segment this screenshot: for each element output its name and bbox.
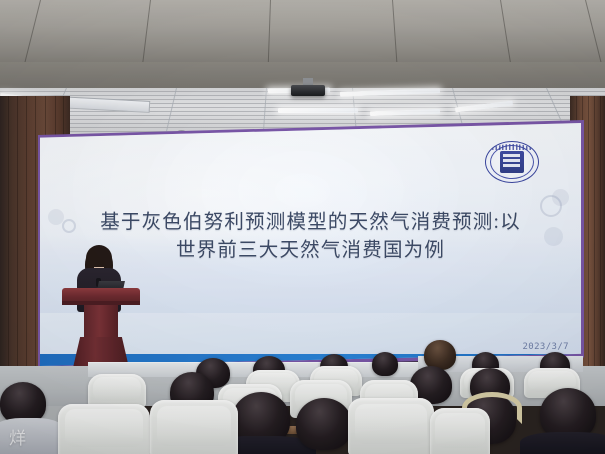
auditorium-seat[interactable] (58, 404, 150, 454)
auditorium-seat[interactable] (430, 408, 490, 454)
audience-head (372, 352, 398, 376)
auditorium-seat[interactable] (150, 400, 238, 454)
ceiling-light-strip (278, 108, 358, 113)
date-stamp: 2023/3/7 (522, 342, 569, 352)
auditorium-seat[interactable] (88, 374, 146, 408)
conference-photo: 基于灰色伯努利预测模型的天然气消费预测:以 世界前三大天然气消费国为例 2023… (0, 0, 605, 454)
watermark: 烊 (9, 424, 26, 449)
lectern (62, 288, 140, 372)
projector (291, 85, 325, 96)
audience-head (296, 398, 352, 450)
slide-title-line-2: 世界前三大天然气消费国为例 (66, 237, 555, 265)
audience-shoulders (520, 432, 605, 454)
slide-decor-circle (552, 189, 569, 206)
university-logo-icon (485, 141, 539, 183)
slide-title-line-1: 基于灰色伯努利预测模型的天然气消费预测:以 (66, 209, 555, 237)
auditorium-seat[interactable] (348, 398, 434, 454)
